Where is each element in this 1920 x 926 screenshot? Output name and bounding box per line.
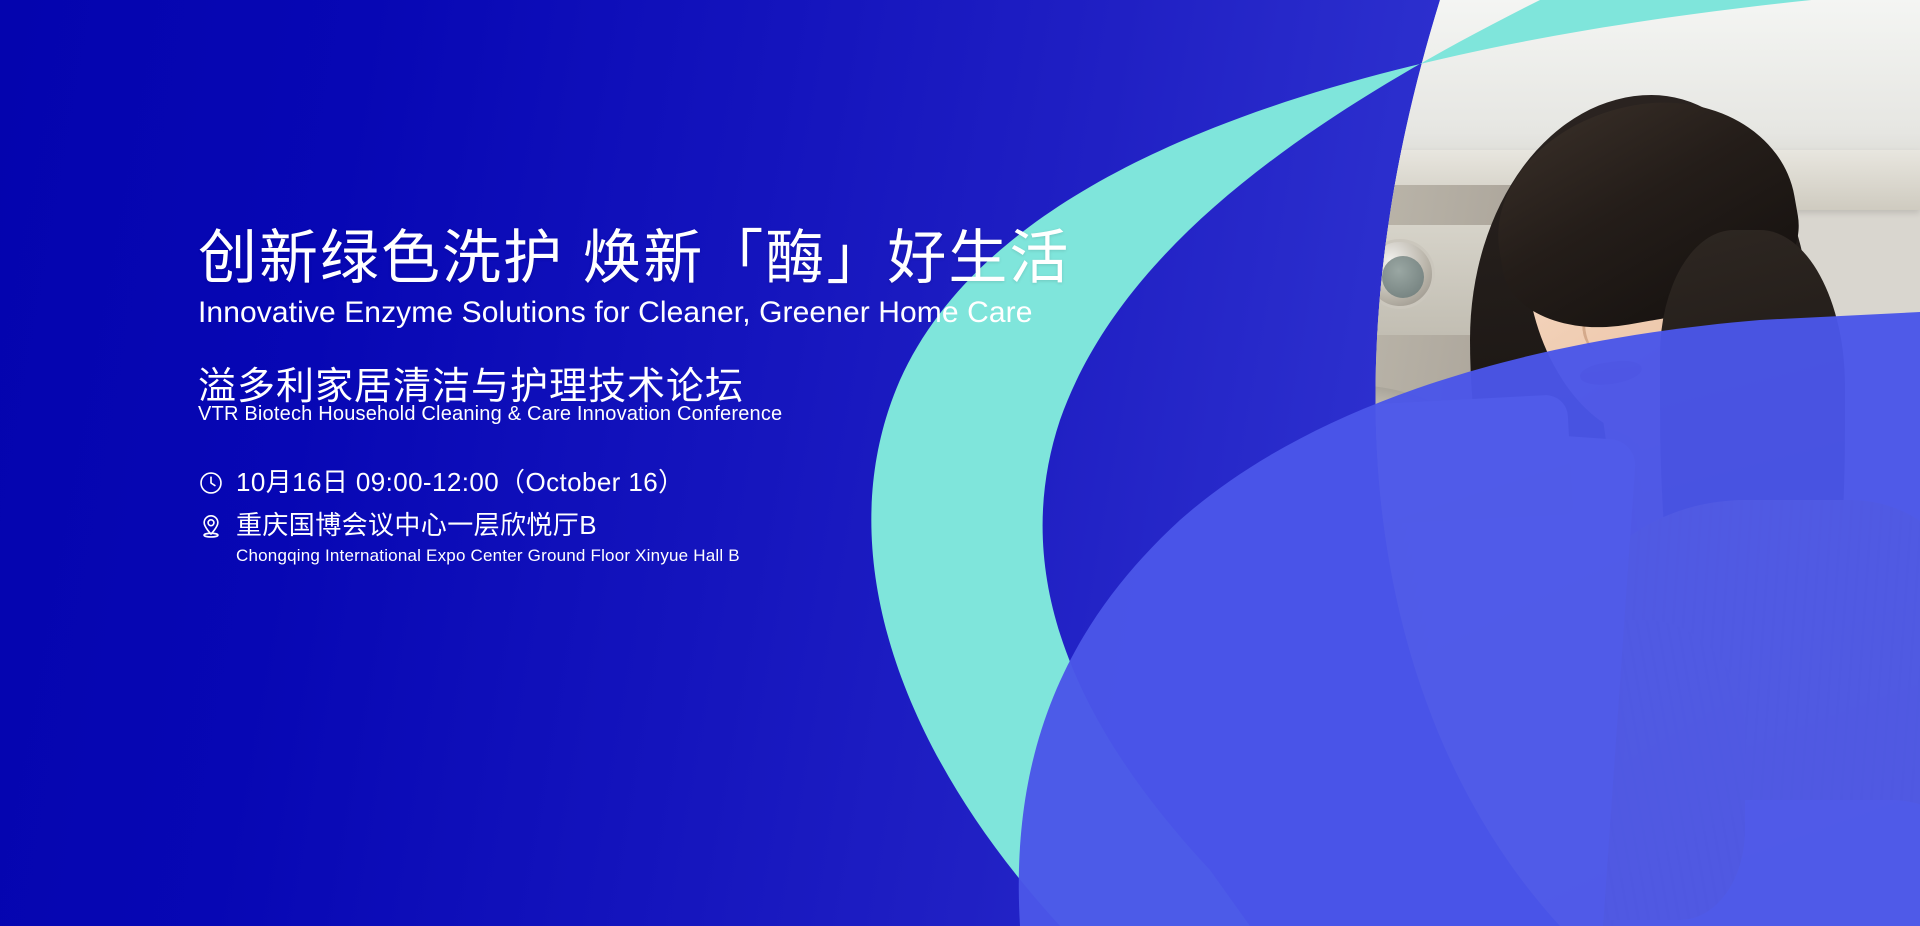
event-time-value: 10月16日 09:00-12:00（October 16）: [236, 466, 684, 499]
clock-icon: [198, 470, 224, 496]
event-time-row: 10月16日 09:00-12:00（October 16）: [198, 466, 1058, 499]
event-venue-value: 重庆国博会议中心一层欣悦厅B: [236, 509, 740, 542]
location-pin-icon: [198, 513, 224, 539]
banner-content: 创新绿色洗护 焕新「酶」好生活 Innovative Enzyme Soluti…: [198, 0, 1098, 926]
event-subtitle: 溢多利家居清洁与护理技术论坛: [198, 355, 744, 410]
event-details: 10月16日 09:00-12:00（October 16） 重庆国博会议中心一…: [198, 466, 1058, 579]
page-title: 创新绿色洗护 焕新「酶」好生活: [198, 228, 1070, 290]
event-venue-value-english: Chongqing International Expo Center Grou…: [236, 543, 740, 569]
page-title-english: Innovative Enzyme Solutions for Cleaner,…: [198, 296, 1033, 330]
event-venue-row: 重庆国博会议中心一层欣悦厅B Chongqing International E…: [198, 509, 1058, 569]
event-subtitle-english: VTR Biotech Household Cleaning & Care In…: [198, 403, 782, 426]
event-banner: 创新绿色洗护 焕新「酶」好生活 Innovative Enzyme Soluti…: [0, 0, 1920, 926]
